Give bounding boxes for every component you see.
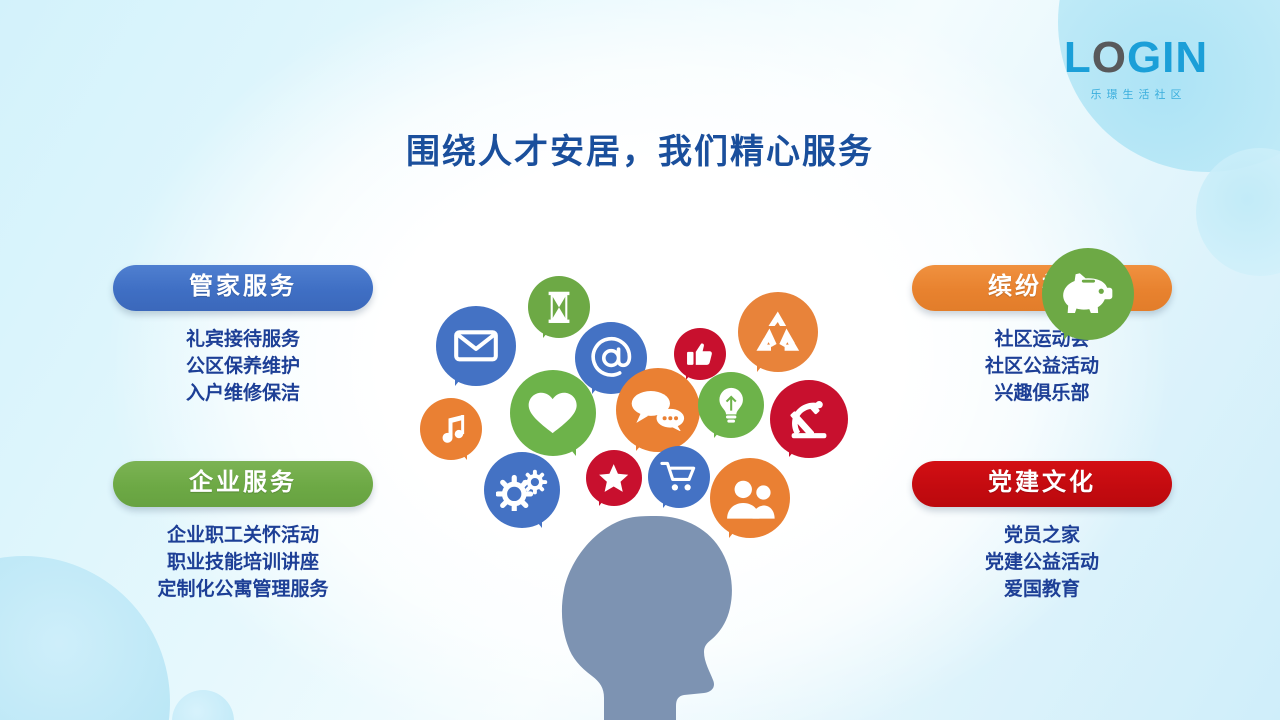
music-note-icon <box>420 398 482 460</box>
bubble-piggy-bank <box>1042 248 1134 340</box>
list-item: 职业技能培训讲座 <box>93 550 393 577</box>
list-item: 公区保养维护 <box>93 354 393 381</box>
logo-letters-gin: GIN <box>1127 36 1208 80</box>
gears-icon <box>484 452 560 528</box>
shopping-cart-icon <box>648 446 710 508</box>
logo-letter-o: O <box>1092 36 1127 80</box>
chat-bubbles-icon <box>616 368 700 452</box>
star-icon <box>586 450 642 506</box>
items-party: 党员之家 党建公益活动 爱国教育 <box>892 523 1192 604</box>
lightbulb-icon <box>698 372 764 438</box>
hammer-sickle-icon <box>770 380 848 458</box>
bubble-shopping-cart <box>648 446 710 508</box>
panel-party: 党建文化 党员之家 党建公益活动 爱国教育 <box>892 461 1192 604</box>
logo-subtitle: 乐璟生活社区 <box>1036 86 1236 102</box>
list-item: 党员之家 <box>892 523 1192 550</box>
items-enterprise: 企业职工关怀活动 职业技能培训讲座 定制化公寓管理服务 <box>93 523 393 604</box>
envelope-icon <box>436 306 516 386</box>
heart-icon <box>510 370 596 456</box>
list-item: 社区公益活动 <box>892 354 1192 381</box>
brand-logo: LOGIN 乐璟生活社区 <box>1036 36 1236 102</box>
logo-letter-l: L <box>1064 36 1092 80</box>
bubble-hammer-sickle <box>770 380 848 458</box>
bubble-heart <box>510 370 596 456</box>
list-item: 兴趣俱乐部 <box>892 381 1192 408</box>
bubble-chat-bubbles <box>616 368 700 452</box>
items-steward: 礼宾接待服务 公区保养维护 入户维修保洁 <box>93 327 393 408</box>
panel-enterprise: 企业服务 企业职工关怀活动 职业技能培训讲座 定制化公寓管理服务 <box>93 461 393 604</box>
head-silhouette <box>560 512 750 720</box>
list-item: 党建公益活动 <box>892 550 1192 577</box>
list-item: 礼宾接待服务 <box>93 327 393 354</box>
bubble-gears <box>484 452 560 528</box>
bubble-recycle <box>738 292 818 372</box>
badge-steward[interactable]: 管家服务 <box>113 265 373 311</box>
page-title: 围绕人才安居，我们精心服务 <box>0 124 1280 173</box>
list-item: 入户维修保洁 <box>93 381 393 408</box>
decor-circle-bottom-left-small <box>172 690 234 720</box>
recycle-icon <box>738 292 818 372</box>
panel-steward: 管家服务 礼宾接待服务 公区保养维护 入户维修保洁 <box>93 265 393 408</box>
list-item: 爱国教育 <box>892 577 1192 604</box>
bubble-music-note <box>420 398 482 460</box>
bubble-envelope <box>436 306 516 386</box>
bubble-star <box>586 450 642 506</box>
list-item: 定制化公寓管理服务 <box>93 577 393 604</box>
piggy-bank-icon <box>1042 248 1134 340</box>
list-item: 企业职工关怀活动 <box>93 523 393 550</box>
slide-canvas: LOGIN 乐璟生活社区 围绕人才安居，我们精心服务 管家服务 礼宾接待服务 公… <box>0 0 1280 720</box>
bubble-lightbulb <box>698 372 764 438</box>
badge-party[interactable]: 党建文化 <box>912 461 1172 507</box>
badge-enterprise[interactable]: 企业服务 <box>113 461 373 507</box>
logo-wordmark: LOGIN <box>1036 36 1236 80</box>
